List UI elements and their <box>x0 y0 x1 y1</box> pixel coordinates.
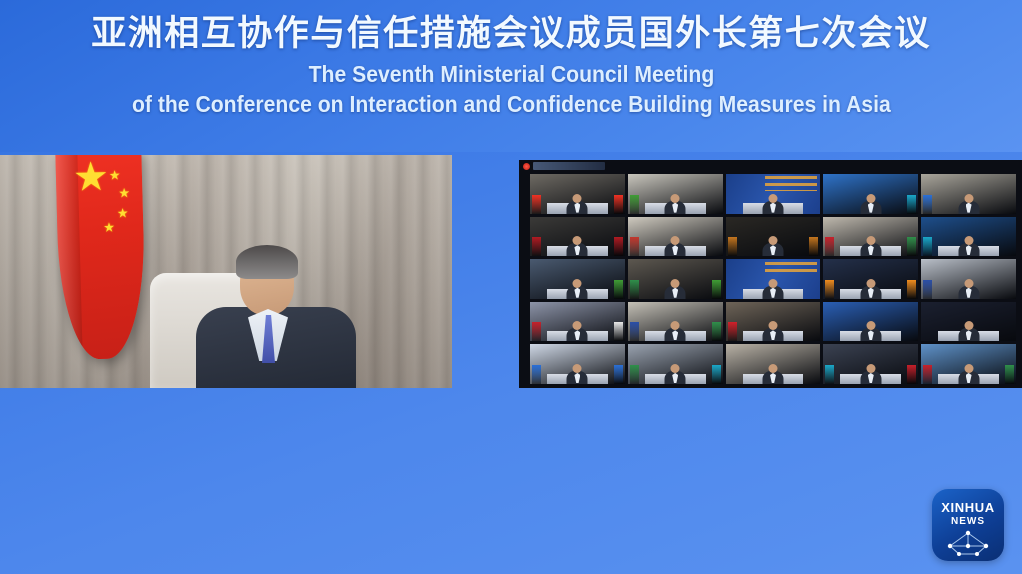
tile-participant <box>860 194 882 214</box>
watermark-brand: XINHUA <box>932 500 1004 515</box>
participant-head <box>768 194 777 203</box>
tile-participant <box>762 279 784 299</box>
participant-head <box>964 364 973 373</box>
tile-flag-left <box>630 322 639 341</box>
tile-participant <box>566 236 588 256</box>
tile-flag-left <box>825 237 834 256</box>
tile-flag-left <box>630 365 639 384</box>
banner-title-chinese: 亚洲相互协作与信任措施会议成员国外长第七次会议 <box>91 14 931 55</box>
tile-cambodia[interactable] <box>530 217 625 257</box>
participant-head <box>964 194 973 203</box>
tile-participant <box>762 194 784 214</box>
flag-star-small-3: ★ <box>117 206 129 219</box>
flag-star-small-1: ★ <box>109 168 121 181</box>
tile-participant <box>566 364 588 384</box>
participant-head <box>573 279 582 288</box>
participant-head <box>964 279 973 288</box>
tile-secretariat[interactable] <box>921 344 1016 384</box>
tile-participant <box>860 321 882 341</box>
tile-participant <box>762 321 784 341</box>
participant-head <box>866 279 875 288</box>
tile-flag-right <box>907 280 916 299</box>
tile-participant <box>762 364 784 384</box>
tile-flag-right <box>614 365 623 384</box>
tile-flag-right <box>712 322 721 341</box>
tile-participant <box>664 236 686 256</box>
xinhua-news-watermark: XINHUA NEWS <box>932 489 1004 561</box>
tile-flag-right <box>712 365 721 384</box>
tile-participant <box>860 364 882 384</box>
tile-bangladesh[interactable] <box>628 259 723 299</box>
flag-star-small-2: ★ <box>118 186 130 199</box>
tile-participant <box>566 279 588 299</box>
tile-participant <box>958 364 980 384</box>
speaker-figure <box>190 251 380 388</box>
tile-turkmenistan[interactable] <box>921 217 1016 257</box>
tile-flag-right <box>809 237 818 256</box>
recording-status-label <box>533 162 605 170</box>
participant-head <box>768 321 777 330</box>
tile-jordan[interactable] <box>823 302 918 342</box>
participant-head <box>671 194 680 203</box>
flag-star-large: ★ <box>72 157 109 198</box>
tile-flag-left <box>630 195 639 214</box>
speaker-hair <box>236 245 298 279</box>
tile-srilanka[interactable] <box>726 217 821 257</box>
tile-bahrain[interactable] <box>823 217 918 257</box>
tile-flag-left <box>923 280 932 299</box>
tile-china[interactable] <box>530 174 625 214</box>
tile-turkey[interactable] <box>726 302 821 342</box>
tile-iraq[interactable] <box>628 217 723 257</box>
participant-head <box>671 321 680 330</box>
tile-palestine[interactable] <box>628 344 723 384</box>
tile-backdrop[interactable] <box>726 174 821 214</box>
tile-flag-left <box>728 237 737 256</box>
tile-flag-right <box>1005 365 1014 384</box>
tile-israel[interactable] <box>530 344 625 384</box>
network-nodes-icon <box>936 529 1000 557</box>
participant-head <box>866 236 875 245</box>
tile-multiflags[interactable] <box>823 344 918 384</box>
tile-participant <box>664 321 686 341</box>
tile-flag-left <box>630 237 639 256</box>
participant-head <box>866 321 875 330</box>
participant-head <box>671 236 680 245</box>
tile-participant <box>566 194 588 214</box>
banner-title-english-line1: The Seventh Ministerial Council Meeting <box>308 60 714 89</box>
tile-flag-left <box>923 195 932 214</box>
participant-head <box>964 321 973 330</box>
tile-flag-right <box>907 237 916 256</box>
screenshot-root: 亚洲相互协作与信任措施会议成员国外长第七次会议 The Seventh Mini… <box>0 0 1022 574</box>
tile-flag-left <box>728 322 737 341</box>
tile-flag-right <box>614 280 623 299</box>
tile-participant <box>958 321 980 341</box>
participant-head <box>573 194 582 203</box>
tile-participant <box>664 279 686 299</box>
tile-participant <box>664 364 686 384</box>
conference-banner: 亚洲相互协作与信任措施会议成员国外长第七次会议 The Seventh Mini… <box>0 0 1022 152</box>
tile-uzbekistan[interactable] <box>921 174 1016 214</box>
tile-flag-left <box>532 365 541 384</box>
tile-korea[interactable] <box>921 259 1016 299</box>
participant-head <box>964 236 973 245</box>
tile-participant <box>566 321 588 341</box>
tile-russia[interactable] <box>530 259 625 299</box>
tile-flag-right <box>907 195 916 214</box>
tile-azerbaijan[interactable] <box>628 174 723 214</box>
tile-empty-desk[interactable] <box>921 302 1016 342</box>
tile-india[interactable] <box>823 259 918 299</box>
tile-flag-right <box>614 237 623 256</box>
tile-flag-right <box>614 195 623 214</box>
participant-head <box>768 279 777 288</box>
main-speaker-video-feed: ★ ★ ★ ★ ★ ★ ★ ★ ★ ★ 中 国 CHIN <box>0 155 452 388</box>
tile-participant <box>958 194 980 214</box>
watermark-sub: NEWS <box>932 516 1004 527</box>
participant-head <box>671 364 680 373</box>
tile-participant <box>860 236 882 256</box>
banner-title-english-line2: of the Conference on Interaction and Con… <box>132 90 891 119</box>
flag-star-small-4: ★ <box>103 221 115 234</box>
tile-flag-left <box>532 195 541 214</box>
tile-participant <box>860 279 882 299</box>
tile-flag-left <box>532 322 541 341</box>
tile-philippines[interactable] <box>628 302 723 342</box>
tile-flag-left <box>630 280 639 299</box>
tile-flag-right <box>907 365 916 384</box>
tile-participant <box>762 236 784 256</box>
tile-kazakhstan[interactable] <box>823 174 918 214</box>
participant-head <box>768 364 777 373</box>
tile-flag-left <box>532 237 541 256</box>
tile-participant <box>958 279 980 299</box>
tile-flag-left <box>825 365 834 384</box>
recording-indicator-icon <box>523 163 530 170</box>
participant-head <box>768 236 777 245</box>
tile-participant <box>958 236 980 256</box>
tile-flag-left <box>825 280 834 299</box>
tile-flag-left <box>923 237 932 256</box>
video-conference-wall <box>519 160 1022 388</box>
tile-meetingroom[interactable] <box>726 344 821 384</box>
participant-head <box>573 236 582 245</box>
participant-grid <box>530 174 1016 384</box>
participant-head <box>573 321 582 330</box>
participant-head <box>866 194 875 203</box>
participant-head <box>573 364 582 373</box>
participant-head <box>866 364 875 373</box>
tile-flag-left <box>923 365 932 384</box>
tile-tajikistan[interactable] <box>530 302 625 342</box>
participant-head <box>671 279 680 288</box>
tile-participant <box>664 194 686 214</box>
tile-unbackdrop[interactable] <box>726 259 821 299</box>
tile-flag-right <box>712 280 721 299</box>
tile-flag-right <box>614 322 623 341</box>
